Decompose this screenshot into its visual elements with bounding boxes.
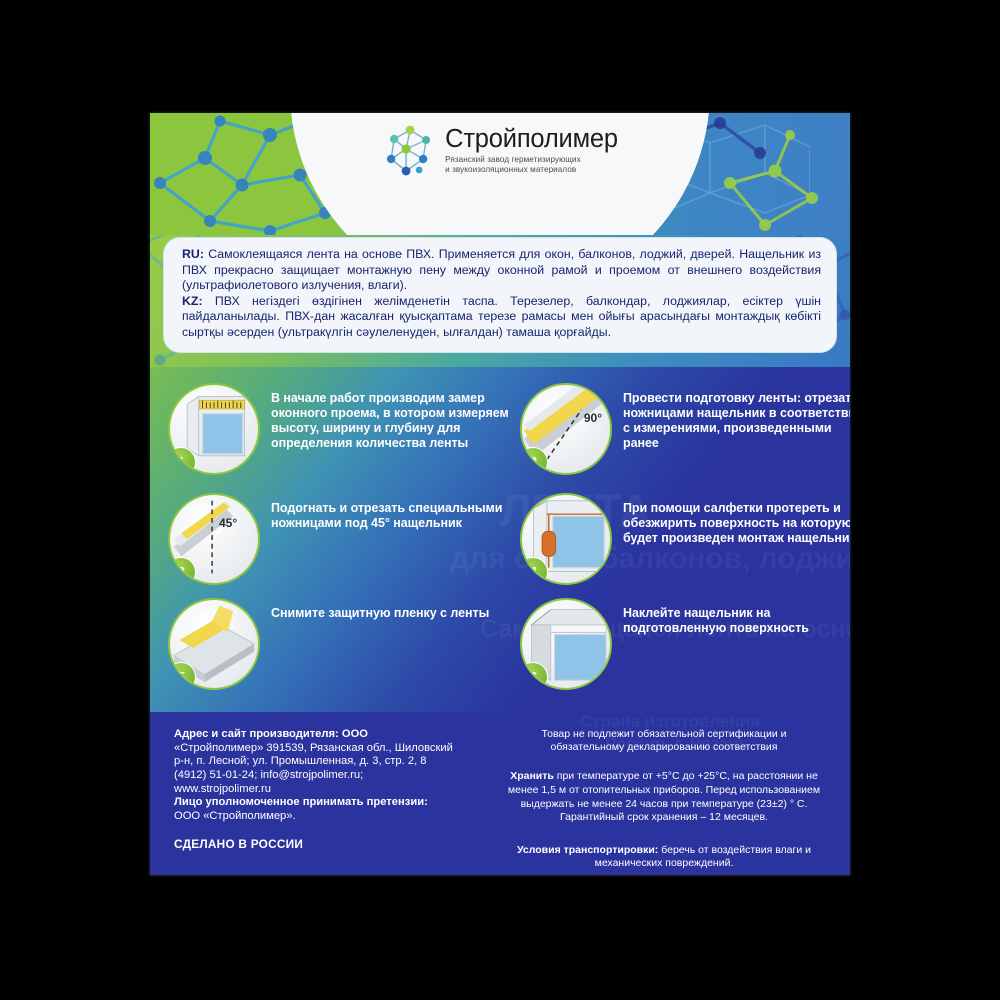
storage-conditions: Хранить при температуре от +5°C до +25°C… <box>495 770 833 825</box>
tape-strip-90-degree-cut-icon: 90° 2 <box>520 383 612 475</box>
molecule-network-icon <box>382 123 438 179</box>
description-kz: KZ: ПВХ негіздегі өздігінен желімденетін… <box>182 294 821 341</box>
transport-label: Условия транспортировки: <box>517 844 658 856</box>
description-kz-label: KZ: <box>182 294 203 308</box>
instruction-step-3: 45° 3 Подогнать и отрезать специальными … <box>168 493 520 598</box>
address-heading: Адрес и сайт производителя: ООО <box>174 728 368 740</box>
step-badge-6: 6 <box>520 662 548 690</box>
instruction-step-5: 5 Снимите защитную пленку с ленты <box>168 598 520 706</box>
screenshot-canvas: Стройполимер Рязанский завод герметизиру… <box>0 0 1000 1000</box>
transport-conditions: Условия транспортировки: беречь от возде… <box>495 844 833 871</box>
window-corner-wipe-cloth-icon: 4 <box>520 493 612 585</box>
step-badge-4: 4 <box>520 557 548 585</box>
step-text-5: Снимите защитную пленку с ленты <box>271 606 489 621</box>
brand-logo: Стройполимер Рязанский завод герметизиру… <box>382 123 618 179</box>
storage-text: при температуре от +5°C до +25°C, на рас… <box>508 770 820 823</box>
description-ru: RU: Самоклеящаяся лента на основе ПВХ. П… <box>182 247 821 294</box>
tape-strip-45-degree-cut-icon: 45° 3 <box>168 493 260 585</box>
step-badge-2: 2 <box>520 447 548 475</box>
apply-strip-to-frame-icon: 6 <box>520 598 612 690</box>
step-text-6: Наклейте нащельник на подготовленную пов… <box>623 606 850 636</box>
claims-heading: Лицо уполномоченное принимать претензии: <box>174 796 428 808</box>
brand-name: Стройполимер <box>445 126 618 153</box>
certification-note: Товар не подлежит обязательной сертифика… <box>495 728 833 754</box>
step-badge-3: 3 <box>168 557 196 585</box>
claims-company: ООО «Стройполимер». <box>174 810 296 822</box>
label-header: Стройполимер Рязанский завод герметизиру… <box>150 113 850 235</box>
instruction-step-1: 1 В начале работ производим замер оконно… <box>168 383 520 493</box>
instruction-step-6: 6 Наклейте нащельник на подготовленную п… <box>520 598 850 706</box>
step-badge-1: 1 <box>168 447 196 475</box>
brand-tagline-line2: и звукоизоляционных материалов <box>445 165 618 176</box>
step-angle-label-2: 90° <box>584 411 602 425</box>
step-angle-label-3: 45° <box>219 516 237 530</box>
compliance-block: Товар не подлежит обязательной сертифика… <box>495 728 833 871</box>
description-panel: RU: Самоклеящаяся лента на основе ПВХ. П… <box>163 237 837 353</box>
storage-label: Хранить <box>510 770 554 782</box>
cert-line-2: обязательному декларированию соответстви… <box>551 741 778 753</box>
step-text-3: Подогнать и отрезать специальными ножниц… <box>271 501 520 531</box>
label-footer: Страна изготовления Россия, г. Рязань Ад… <box>150 712 850 875</box>
manufacturer-block: Адрес и сайт производителя: ООО «Стройпо… <box>174 728 479 851</box>
window-frame-ruler-icon: 1 <box>168 383 260 475</box>
instruction-step-2: 90° 2 Провести подготовку ленты: отрезат… <box>520 383 850 493</box>
instruction-step-4: 4 При помощи салфетки протереть и обезжи… <box>520 493 850 598</box>
step-text-2: Провести подготовку ленты: отрезать ножн… <box>623 391 850 451</box>
peel-protective-film-icon: 5 <box>168 598 260 690</box>
address-line-2: р-н, п. Лесной; ул. Промышленная, д. 3, … <box>174 755 427 767</box>
description-ru-label: RU: <box>182 247 204 261</box>
cert-line-1: Товар не подлежит обязательной сертифика… <box>542 728 787 740</box>
step-text-4: При помощи салфетки протереть и обезжири… <box>623 501 850 546</box>
instruction-steps-section: ЛЕНТА для окон, балконов, лоджий Самокле… <box>150 367 850 712</box>
address-website: www.strojpolimer.ru <box>174 783 271 795</box>
step-badge-5: 5 <box>168 662 196 690</box>
step-text-1: В начале работ производим замер оконного… <box>271 391 520 451</box>
brand-tagline-line1: Рязанский завод герметизирующих <box>445 155 618 166</box>
product-label: Стройполимер Рязанский завод герметизиру… <box>150 113 850 875</box>
description-ru-text: Самоклеящаяся лента на основе ПВХ. Приме… <box>182 247 821 292</box>
made-in-russia: СДЕЛАНО В РОССИИ <box>174 837 479 851</box>
address-line-1: «Стройполимер» 391539, Рязанская обл., Ш… <box>174 742 453 754</box>
description-kz-text: ПВХ негіздегі өздігінен желімденетін тас… <box>182 294 821 339</box>
address-line-3: (4912) 51-01-24; info@strojpolimer.ru; <box>174 769 363 781</box>
